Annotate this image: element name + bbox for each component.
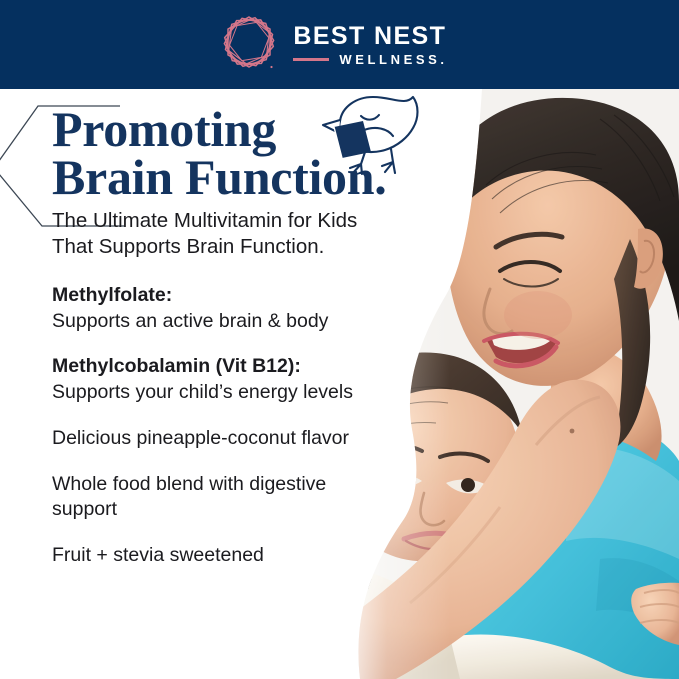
benefit-item: Delicious pineapple-coconut flavor xyxy=(52,426,392,452)
benefit-item: Methylfolate: Supports an active brain &… xyxy=(52,283,392,334)
brand-text-block: BEST NEST WELLNESS. xyxy=(293,24,447,66)
benefit-title: Methylcobalamin (Vit B12): xyxy=(52,354,392,380)
subhead-line-1: The Ultimate Multivitamin for Kids xyxy=(52,208,422,234)
benefit-body: Delicious pineapple-coconut flavor xyxy=(52,426,392,452)
benefit-list: Methylfolate: Supports an active brain &… xyxy=(52,283,392,569)
hexagon-nest-logo-icon xyxy=(223,15,275,75)
benefit-body: Whole food blend with digestive support xyxy=(52,472,392,523)
brand-lockup: BEST NEST WELLNESS. xyxy=(223,15,447,75)
brand-sub-row: WELLNESS. xyxy=(293,53,447,66)
benefit-title: Methylfolate: xyxy=(52,283,392,309)
benefit-item: Methylcobalamin (Vit B12): Supports your… xyxy=(52,354,392,405)
brand-header-bar: BEST NEST WELLNESS. xyxy=(0,0,679,89)
page-subtitle: The Ultimate Multivitamin for Kids That … xyxy=(52,208,422,260)
benefit-body: Supports your child’s energy levels xyxy=(52,380,392,406)
brand-sub-name: WELLNESS. xyxy=(339,53,447,66)
product-infographic-page: BEST NEST WELLNESS. xyxy=(0,0,679,679)
brand-rule-dash-icon xyxy=(293,58,329,61)
subhead-line-2: That Supports Brain Function. xyxy=(52,234,422,260)
benefit-body: Supports an active brain & body xyxy=(52,309,392,335)
benefit-item: Fruit + stevia sweetened xyxy=(52,543,392,569)
brand-name: BEST NEST xyxy=(293,24,447,49)
benefit-body: Fruit + stevia sweetened xyxy=(52,543,392,569)
chick-with-book-icon xyxy=(309,94,433,180)
benefit-item: Whole food blend with digestive support xyxy=(52,472,392,523)
